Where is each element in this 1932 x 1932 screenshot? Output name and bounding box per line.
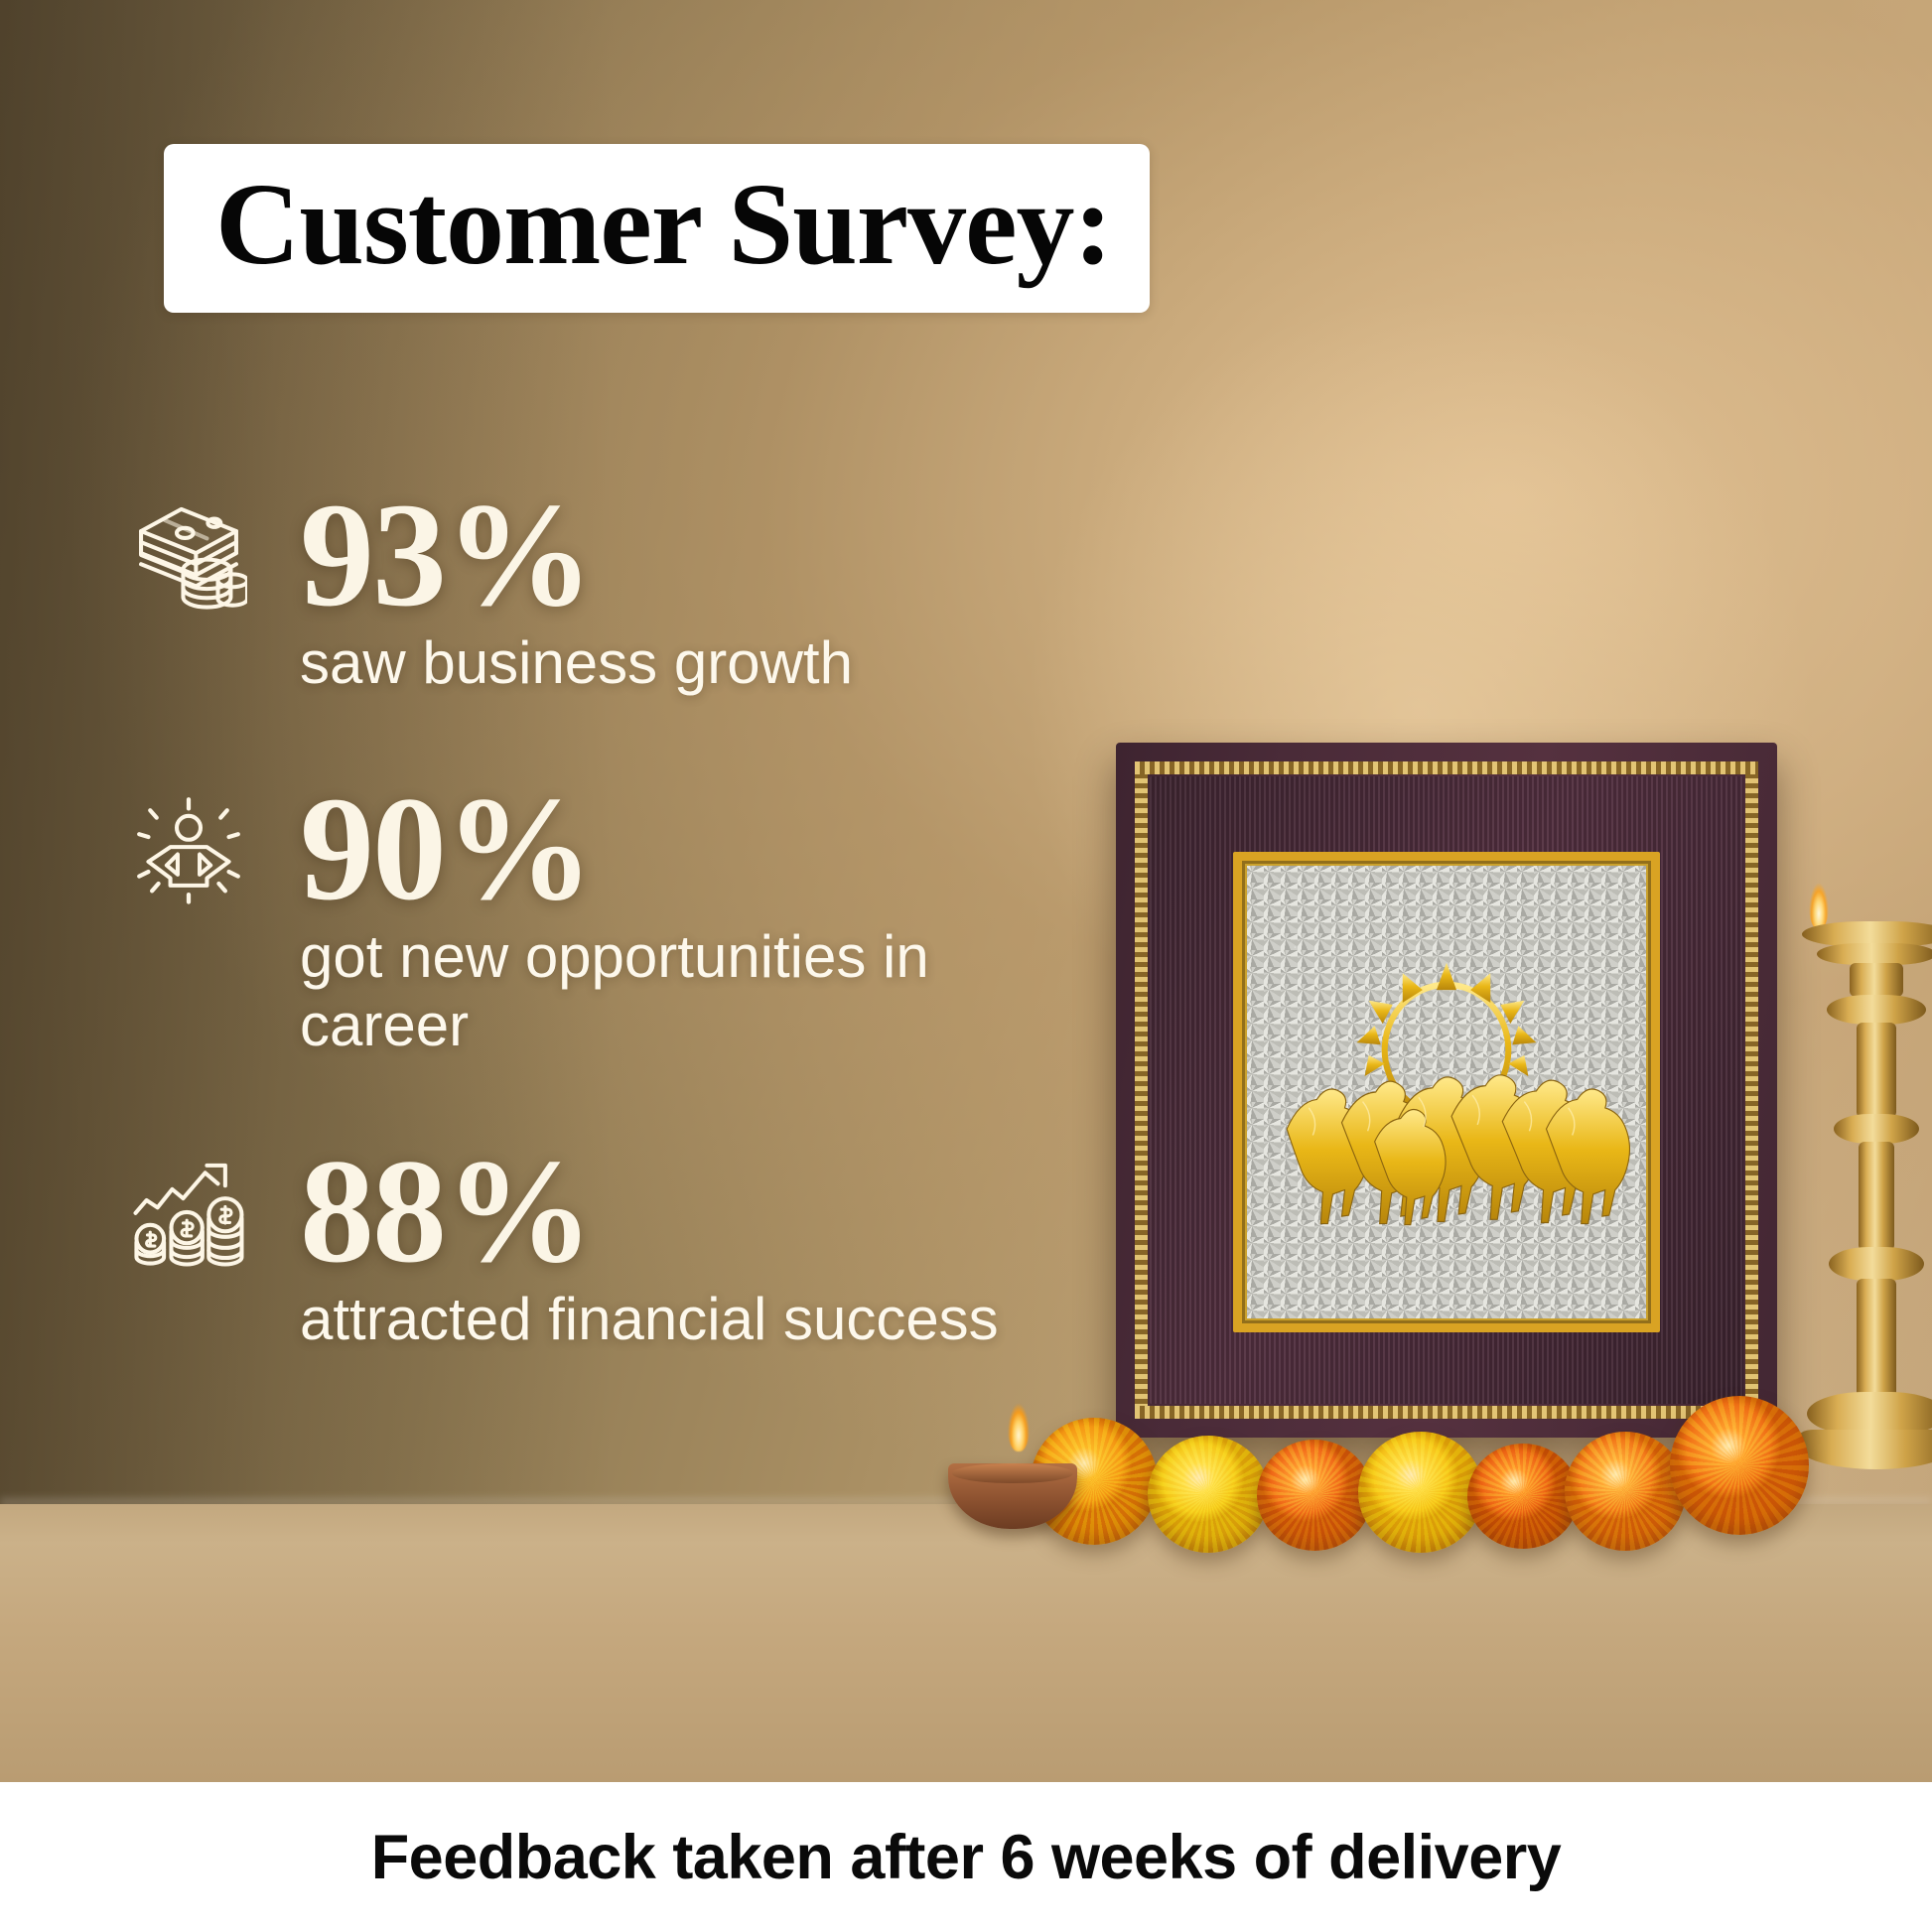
stat-value: 90%: [300, 780, 592, 917]
growth-chart-coins-icon: [119, 1152, 258, 1271]
diya-bowl: [948, 1463, 1077, 1529]
framed-artwork: [1116, 743, 1777, 1438]
marigold-garland: [1021, 1370, 1795, 1559]
diya-rim: [952, 1463, 1073, 1483]
marigold-flower: [1565, 1432, 1686, 1551]
money-stack-icon: [119, 495, 258, 615]
footer-bar: Feedback taken after 6 weeks of delivery: [0, 1782, 1932, 1932]
stat-label: attracted financial success: [300, 1286, 1084, 1353]
stat-value: 88%: [300, 1143, 592, 1280]
marigold-flower: [1358, 1432, 1483, 1553]
stat-item-financial-success: 88% attracted financial success: [119, 1143, 1112, 1353]
marigold-flower: [1257, 1440, 1372, 1551]
marigold-flower: [1467, 1444, 1579, 1549]
page-title: Customer Survey:: [215, 166, 1112, 283]
stat-label: got new opportunities in career: [300, 923, 1084, 1059]
artwork-canvas: [1247, 866, 1646, 1318]
stat-item-career-opportunities: 90% got new opportunities in career: [119, 780, 1112, 1059]
seven-horses-sun-artwork: [1247, 866, 1646, 1318]
marigold-flower: [1670, 1396, 1809, 1535]
title-card: Customer Survey:: [164, 144, 1150, 313]
stat-label: saw business growth: [300, 629, 1084, 697]
brass-lamp-flame: [1809, 878, 1829, 929]
marigold-flower: [1148, 1436, 1269, 1553]
stats-list: 93% saw business growth: [119, 486, 1112, 1438]
footer-note: Feedback taken after 6 weeks of delivery: [371, 1822, 1562, 1893]
poster-root: Customer Survey:: [0, 0, 1932, 1932]
confident-person-icon: [119, 789, 258, 908]
stat-item-business-growth: 93% saw business growth: [119, 486, 1112, 697]
stat-value: 93%: [300, 486, 592, 623]
brass-oil-lamp: [1797, 894, 1932, 1529]
